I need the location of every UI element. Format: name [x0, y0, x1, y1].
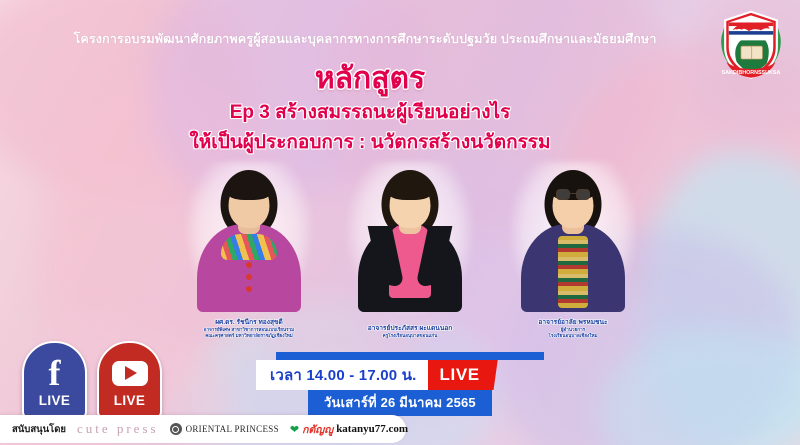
banner-top-accent-bar [276, 352, 544, 360]
live-badge: LIVE [428, 360, 498, 390]
sponsor-bar: สนับสนุนโดย cute press ORIENTAL PRINCESS… [0, 415, 406, 443]
episode-subtitle: ให้เป็นผู้ประกอบการ : นวัตกรสร้างนวัตกรร… [0, 127, 800, 157]
youtube-live-button[interactable]: LIVE [97, 341, 162, 419]
oriental-princess-logo: ORIENTAL PRINCESS [170, 423, 279, 435]
speaker-card: ผศ.ดร. รัชนีกร ทองสุขดี อาจารย์พิเศษ สาข… [174, 163, 324, 338]
speaker-photo [517, 167, 629, 312]
facebook-f-icon: f [36, 356, 74, 390]
time-text: เวลา 14.00 - 17.00 น. [256, 360, 428, 390]
time-row: เวลา 14.00 - 17.00 น. LIVE [256, 360, 498, 390]
katanyu-url-text: katanyu77.com [336, 423, 408, 435]
facebook-live-button[interactable]: f LIVE [22, 341, 87, 419]
katanyu-thai-text: กตัญญู [302, 421, 333, 438]
speaker-card: อาจารย์อาลัย พรหมชนะ ผู้อำนวยการ โรงเรีย… [498, 163, 648, 338]
sponsor-label: สนับสนุนโดย [12, 422, 66, 437]
thai-collar-scarf [221, 234, 277, 260]
speaker-role: ครูโรงเรียนอนุบาลขอนแก่น [334, 333, 486, 338]
date-text: วันเสาร์ที่ 26 มีนาคม 2565 [308, 390, 492, 416]
ethnic-embroidery-panel [558, 236, 588, 308]
speaker-name: อาจารย์ประภัสสร ผะแดนนอก [334, 325, 486, 333]
program-header-line: โครงการอบรมพัฒนาศักยภาพครูผู้สอนและบุคลา… [0, 29, 800, 49]
oriental-princess-text: ORIENTAL PRINCESS [186, 424, 279, 434]
poster-root: SAKDIBHORNSSUKSA โครงการอบรมพัฒนาศักยภาพ… [0, 0, 800, 445]
speaker-caption: อาจารย์อาลัย พรหมชนะ ผู้อำนวยการ โรงเรีย… [497, 319, 649, 338]
facebook-live-label: LIVE [24, 393, 85, 408]
oriental-princess-seal-icon [170, 423, 182, 435]
schedule-banner: เวลา 14.00 - 17.00 น. LIVE วันเสาร์ที่ 2… [248, 352, 588, 410]
speaker-photo [354, 167, 466, 312]
page-title: หลักสูตร [0, 55, 800, 102]
katanyu-heart-icon: ❤ [290, 423, 299, 436]
live-button-group: f LIVE LIVE [22, 341, 162, 419]
katanyu-logo[interactable]: ❤ กตัญญู katanyu77.com [290, 421, 408, 438]
speaker-list: ผศ.ดร. รัชนีกร ทองสุขดี อาจารย์พิเศษ สาข… [168, 163, 653, 338]
episode-title: Ep 3 สร้างสมรรถนะผู้เรียนอย่างไร [0, 97, 800, 127]
cutepress-wordmark: cute press [77, 421, 159, 437]
speaker-caption: ผศ.ดร. รัชนีกร ทองสุขดี อาจารย์พิเศษ สาข… [173, 319, 325, 338]
speaker-card: อาจารย์ประภัสสร ผะแดนนอก ครูโรงเรียนอนุบ… [335, 163, 485, 338]
youtube-play-icon [111, 356, 149, 390]
speaker-role: คณะครุศาสตร์ มหาวิทยาลัยราชภัฏเชียงใหม่ [173, 333, 325, 338]
speaker-caption: อาจารย์ประภัสสร ผะแดนนอก ครูโรงเรียนอนุบ… [334, 325, 486, 338]
speaker-name: อาจารย์อาลัย พรหมชนะ [497, 319, 649, 327]
speaker-photo [193, 167, 305, 312]
youtube-live-label: LIVE [99, 393, 160, 408]
speaker-role: โรงเรียนอนุบาลเชียงใหม่ [497, 333, 649, 338]
speaker-name: ผศ.ดร. รัชนีกร ทองสุขดี [173, 319, 325, 327]
glasses-icon [556, 189, 590, 200]
